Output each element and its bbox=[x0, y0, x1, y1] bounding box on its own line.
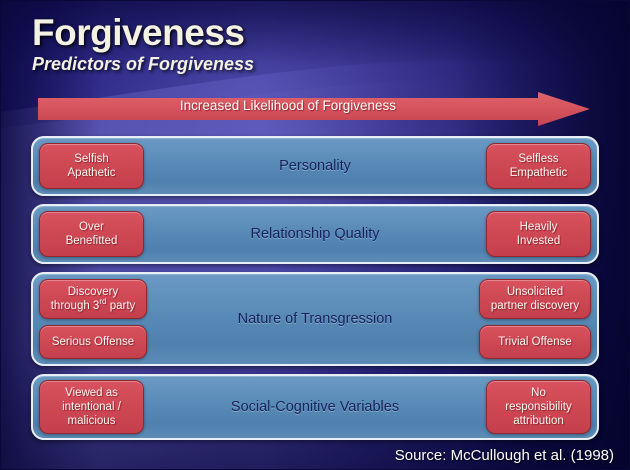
chip-line: Discovery bbox=[68, 286, 118, 298]
row2-left-chips: Over Benefitted bbox=[39, 206, 144, 262]
row2-right-chips: Heavily Invested bbox=[486, 206, 591, 262]
row-nature-of-transgression: Nature of Transgression Discovery throug… bbox=[31, 272, 599, 366]
title-block: Forgiveness Predictors of Forgiveness bbox=[32, 14, 552, 75]
chip-line: Trivial Offense bbox=[498, 335, 572, 349]
likelihood-arrow: Increased Likelihood of Forgiveness bbox=[38, 92, 590, 128]
chip-superscript: rd bbox=[99, 297, 106, 306]
row3-right-chips: Unsolicited partner discovery Trivial Of… bbox=[479, 274, 591, 364]
chip-line: Serious Offense bbox=[52, 335, 134, 349]
chip-line: through 3 bbox=[51, 300, 100, 312]
chip-line: Benefitted bbox=[66, 235, 118, 247]
row4-left-chips: Viewed as intentional / malicious bbox=[39, 376, 144, 438]
chip-serious-offense[interactable]: Serious Offense bbox=[39, 325, 147, 359]
chip-line: partner discovery bbox=[491, 300, 579, 312]
chip-line: Unsolicited bbox=[507, 286, 563, 298]
row1-left-chips: Selfish Apathetic bbox=[39, 138, 144, 194]
chip-selfless-empathetic[interactable]: Selfless Empathetic bbox=[486, 143, 591, 189]
chip-unsolicited-partner-discovery[interactable]: Unsolicited partner discovery bbox=[479, 279, 591, 319]
row-relationship-quality: Relationship Quality Over Benefitted Hea… bbox=[31, 204, 599, 264]
chip-line: malicious bbox=[68, 415, 116, 427]
chip-line: Viewed as bbox=[65, 387, 118, 399]
chip-line: Over bbox=[79, 221, 104, 233]
chip-no-responsibility-attribution[interactable]: No responsibility attribution bbox=[486, 380, 591, 434]
chip-line: Heavily bbox=[520, 221, 558, 233]
chip-line: attribution bbox=[513, 415, 564, 427]
row4-right-chips: No responsibility attribution bbox=[486, 376, 591, 438]
page-title: Forgiveness bbox=[32, 14, 552, 52]
row1-right-chips: Selfless Empathetic bbox=[486, 138, 591, 194]
chip-over-benefitted[interactable]: Over Benefitted bbox=[39, 211, 144, 257]
slide-canvas: Forgiveness Predictors of Forgiveness In… bbox=[0, 0, 630, 470]
chip-trivial-offense[interactable]: Trivial Offense bbox=[479, 325, 591, 359]
chip-line: Selfless bbox=[518, 153, 558, 165]
source-citation: Source: McCullough et al. (1998) bbox=[395, 447, 614, 464]
chip-heavily-invested[interactable]: Heavily Invested bbox=[486, 211, 591, 257]
chip-line: No bbox=[531, 387, 546, 399]
chip-line: Invested bbox=[517, 235, 560, 247]
row3-left-chips: Discovery through 3rd party Serious Offe… bbox=[39, 274, 147, 364]
page-subtitle: Predictors of Forgiveness bbox=[32, 54, 552, 75]
chip-line: intentional / bbox=[62, 401, 121, 413]
chip-line: responsibility bbox=[505, 401, 571, 413]
chip-line: party bbox=[107, 300, 136, 312]
chip-selfish-apathetic[interactable]: Selfish Apathetic bbox=[39, 143, 144, 189]
row-social-cognitive-variables: Social-Cognitive Variables Viewed as int… bbox=[31, 374, 599, 440]
chip-discovery-third-party[interactable]: Discovery through 3rd party bbox=[39, 279, 147, 319]
chip-viewed-as-intentional-malicious[interactable]: Viewed as intentional / malicious bbox=[39, 380, 144, 434]
chip-line: Empathetic bbox=[510, 167, 568, 179]
chip-line: Selfish bbox=[74, 153, 109, 165]
chip-line: Apathetic bbox=[68, 167, 116, 179]
row-personality: Personality Selfish Apathetic Selfless E… bbox=[31, 136, 599, 196]
arrow-label: Increased Likelihood of Forgiveness bbox=[38, 92, 538, 120]
